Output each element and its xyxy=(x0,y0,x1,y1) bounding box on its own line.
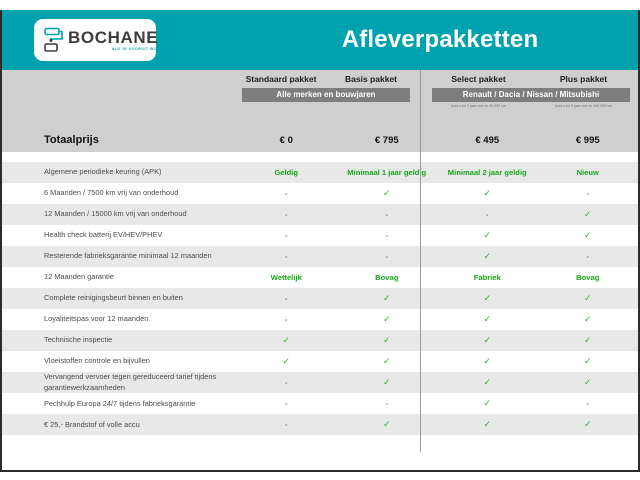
total-price-standaard: € 0 xyxy=(236,135,337,146)
feature-values: GeldigMinimaal 1 jaar geldigMinimaal 2 j… xyxy=(236,168,638,177)
package-group-divider xyxy=(420,70,421,452)
package-header-band: Standaard pakket Basis pakket Alle merke… xyxy=(2,70,638,128)
table-row: Vervangend vervoer tegen gereduceerd tar… xyxy=(2,372,638,393)
feature-label: Resterende fabrieksgarantie minimaal 12 … xyxy=(2,251,236,262)
feature-label: € 25,- Brandstof of volle accu xyxy=(2,420,236,431)
table-row: Algemene periodieke keuring (APK)GeldigM… xyxy=(2,162,638,183)
feature-label: Loyaliteitspas voor 12 maanden xyxy=(2,314,236,325)
feature-value-basis: - xyxy=(337,231,438,240)
feature-value-standaard: - xyxy=(236,399,337,408)
feature-value-select: ✓ xyxy=(437,230,538,241)
feature-value-basis: ✓ xyxy=(337,419,438,430)
page-frame-bottom xyxy=(0,470,640,472)
total-price-select: € 495 xyxy=(437,135,538,146)
package-notes-right: Auto's tot 3 jaar oud en 30.000 km Auto'… xyxy=(426,104,636,108)
feature-values: -✓✓✓ xyxy=(236,419,638,430)
feature-value-standaard: - xyxy=(236,210,337,219)
feature-value-standaard: Geldig xyxy=(236,168,337,177)
table-row: Technische inspectie✓✓✓✓ xyxy=(2,330,638,351)
table-row: € 25,- Brandstof of volle accu-✓✓✓ xyxy=(2,414,638,435)
package-names-left: Standaard pakket Basis pakket xyxy=(236,74,416,84)
total-price-plus: € 995 xyxy=(538,135,639,146)
feature-value-plus: ✓ xyxy=(538,356,639,367)
feature-label: Vervangend vervoer tegen gereduceerd tar… xyxy=(2,372,236,393)
feature-value-plus: Nieuw xyxy=(538,168,639,177)
feature-value-basis: ✓ xyxy=(337,335,438,346)
total-price-label: Totaalprijs xyxy=(2,134,236,146)
page-header: BOCHANE ALS JE VOORUIT WIL Afleverpakket… xyxy=(2,10,638,70)
package-note-plus: Auto's tot 5 jaar oud en 100.000 km xyxy=(531,104,636,108)
package-name-plus: Plus pakket xyxy=(531,74,636,84)
feature-value-basis: - xyxy=(337,252,438,261)
feature-label: Technische inspectie xyxy=(2,335,236,346)
feature-value-select: ✓ xyxy=(437,188,538,199)
feature-value-plus: - xyxy=(538,252,639,261)
feature-value-basis: - xyxy=(337,399,438,408)
afleverpakketten-page: BOCHANE ALS JE VOORUIT WIL Afleverpakket… xyxy=(0,0,640,480)
bochane-b-mark-icon xyxy=(42,27,64,53)
feature-value-plus: ✓ xyxy=(538,293,639,304)
bochane-logo-text: BOCHANE ALS JE VOORUIT WIL xyxy=(68,29,158,52)
feature-value-basis: ✓ xyxy=(337,293,438,304)
feature-label: Complete reinigingsbeurt binnen en buite… xyxy=(2,293,236,304)
table-row: 12 Maanden / 15000 km vrij van onderhoud… xyxy=(2,204,638,225)
table-row: Resterende fabrieksgarantie minimaal 12 … xyxy=(2,246,638,267)
feature-value-select: ✓ xyxy=(437,314,538,325)
package-notes-left-spacer xyxy=(236,102,416,109)
total-price-basis: € 795 xyxy=(337,135,438,146)
feature-values: -✓✓✓ xyxy=(236,293,638,304)
bochane-logo: BOCHANE ALS JE VOORUIT WIL xyxy=(34,19,156,61)
feature-values: --✓- xyxy=(236,251,638,262)
package-name-basis: Basis pakket xyxy=(326,74,416,84)
table-row: Loyaliteitspas voor 12 maanden-✓✓✓ xyxy=(2,309,638,330)
comparison-sheet: BOCHANE ALS JE VOORUIT WIL Afleverpakket… xyxy=(2,10,638,470)
package-group-left: Standaard pakket Basis pakket Alle merke… xyxy=(236,74,416,109)
brand-bar-left: Alle merken en bouwjaren xyxy=(242,88,410,102)
total-price-values: € 0 € 795 € 495 € 995 xyxy=(236,135,638,146)
package-group-right: Select pakket Plus pakket Renault / Daci… xyxy=(426,74,636,108)
brand-bar-right: Renault / Dacia / Nissan / Mitsubishi xyxy=(432,88,630,102)
feature-label: 12 Maanden / 15000 km vrij van onderhoud xyxy=(2,209,236,220)
feature-value-plus: ✓ xyxy=(538,230,639,241)
feature-value-standaard: ✓ xyxy=(236,335,337,346)
feature-values: ---✓ xyxy=(236,209,638,220)
feature-value-plus: ✓ xyxy=(538,419,639,430)
feature-value-plus: - xyxy=(538,189,639,198)
feature-value-select: ✓ xyxy=(437,251,538,262)
feature-value-standaard: - xyxy=(236,231,337,240)
band-gap xyxy=(2,152,638,162)
feature-values: -✓✓✓ xyxy=(236,314,638,325)
feature-values: --✓✓ xyxy=(236,230,638,241)
feature-value-select: ✓ xyxy=(437,419,538,430)
feature-value-basis: Bovag xyxy=(337,273,438,282)
package-name-select: Select pakket xyxy=(426,74,531,84)
table-row: 12 Maanden garantieWettelijkBovagFabriek… xyxy=(2,267,638,288)
package-name-standaard: Standaard pakket xyxy=(236,74,326,84)
feature-value-basis: - xyxy=(337,210,438,219)
feature-value-standaard: ✓ xyxy=(236,356,337,367)
feature-values: WettelijkBovagFabriekBovag xyxy=(236,273,638,282)
feature-value-basis: ✓ xyxy=(337,377,438,388)
table-row: 6 Maanden / 7500 km vrij van onderhoud-✓… xyxy=(2,183,638,204)
feature-value-basis: ✓ xyxy=(337,356,438,367)
feature-value-basis: ✓ xyxy=(337,314,438,325)
feature-label: Health check batterij EV/HEV/PHEV xyxy=(2,230,236,241)
feature-value-select: Fabriek xyxy=(437,273,538,282)
bochane-tagline: ALS JE VOORUIT WIL xyxy=(112,48,159,52)
feature-label: Vloeistoffen controle en bijvullen xyxy=(2,356,236,367)
feature-value-select: ✓ xyxy=(437,335,538,346)
feature-value-select: ✓ xyxy=(437,377,538,388)
feature-value-standaard: - xyxy=(236,420,337,429)
feature-label: Pechhulp Europa 24/7 tijdens fabrieksgar… xyxy=(2,399,236,410)
feature-label: 12 Maanden garantie xyxy=(2,272,236,283)
feature-values: ✓✓✓✓ xyxy=(236,356,638,367)
feature-value-basis: Minimaal 1 jaar geldig xyxy=(337,168,438,177)
feature-value-select: ✓ xyxy=(437,356,538,367)
feature-value-standaard: Wettelijk xyxy=(236,273,337,282)
feature-value-standaard: - xyxy=(236,189,337,198)
page-title: Afleverpakketten xyxy=(242,26,638,54)
feature-value-plus: ✓ xyxy=(538,377,639,388)
feature-value-plus: ✓ xyxy=(538,209,639,220)
feature-value-plus: ✓ xyxy=(538,314,639,325)
feature-label: Algemene periodieke keuring (APK) xyxy=(2,167,236,178)
feature-value-standaard: - xyxy=(236,378,337,387)
feature-value-standaard: - xyxy=(236,294,337,303)
package-names-right: Select pakket Plus pakket xyxy=(426,74,636,84)
feature-values: --✓- xyxy=(236,398,638,409)
feature-values: -✓✓✓ xyxy=(236,377,638,388)
feature-value-select: ✓ xyxy=(437,398,538,409)
table-row: Complete reinigingsbeurt binnen en buite… xyxy=(2,288,638,309)
bochane-wordmark: BOCHANE xyxy=(68,29,158,46)
total-price-row: Totaalprijs € 0 € 795 € 495 € 995 xyxy=(2,128,638,152)
feature-value-standaard: - xyxy=(236,252,337,261)
feature-value-select: ✓ xyxy=(437,293,538,304)
feature-value-select: Minimaal 2 jaar geldig xyxy=(437,168,538,177)
feature-table: Algemene periodieke keuring (APK)GeldigM… xyxy=(2,162,638,435)
feature-values: -✓✓- xyxy=(236,188,638,199)
feature-value-standaard: - xyxy=(236,315,337,324)
table-row: Pechhulp Europa 24/7 tijdens fabrieksgar… xyxy=(2,393,638,414)
feature-value-plus: - xyxy=(538,399,639,408)
table-tail-space xyxy=(2,435,638,451)
feature-values: ✓✓✓✓ xyxy=(236,335,638,346)
feature-value-basis: ✓ xyxy=(337,188,438,199)
feature-label: 6 Maanden / 7500 km vrij van onderhoud xyxy=(2,188,236,199)
feature-value-plus: ✓ xyxy=(538,335,639,346)
feature-value-plus: Bovag xyxy=(538,273,639,282)
package-note-select: Auto's tot 3 jaar oud en 30.000 km xyxy=(426,104,531,108)
table-row: Vloeistoffen controle en bijvullen✓✓✓✓ xyxy=(2,351,638,372)
table-row: Health check batterij EV/HEV/PHEV--✓✓ xyxy=(2,225,638,246)
feature-value-select: - xyxy=(437,210,538,219)
